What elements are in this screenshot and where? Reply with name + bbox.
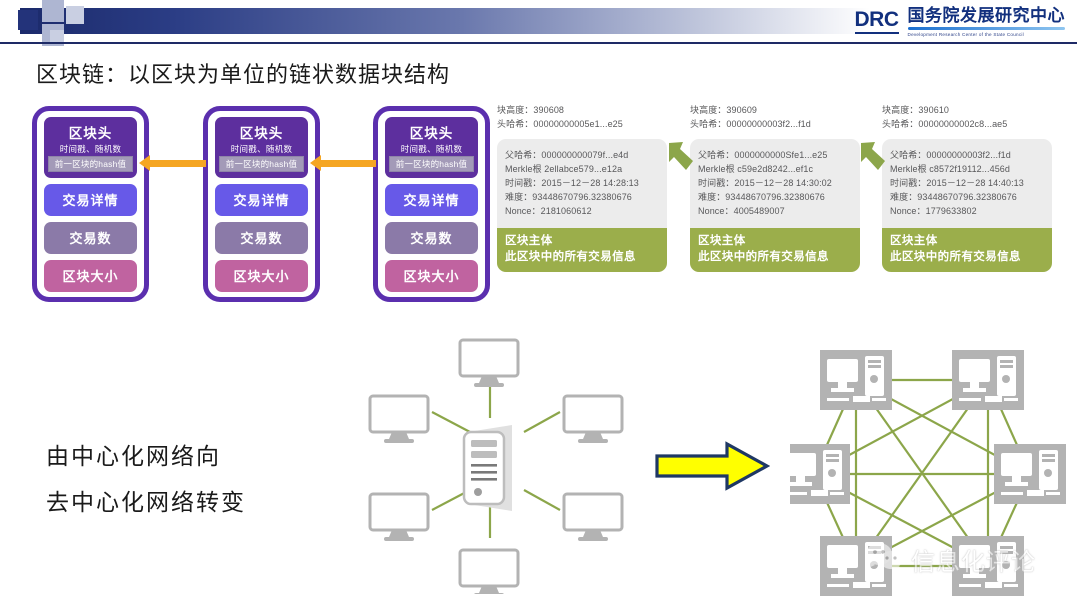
chain-link-arrow-2 (320, 160, 376, 167)
block-parent-hash: 父哈希：00000000003f2...f1d (890, 149, 1044, 163)
logo-text-group: 国务院发展研究中心 Development Research Center of… (908, 6, 1066, 37)
block-nonce: Nonce：4005489007 (698, 205, 852, 219)
chain-block-header-sub: 时间戳、随机数 (60, 143, 122, 155)
header-square-icon-2 (42, 0, 64, 22)
transition-caption: 由中心化网络向 去中心化网络转变 (46, 434, 246, 526)
wechat-watermark: 信息化评论 (865, 541, 1036, 578)
chain-block-row-tx-count: 交易数 (215, 222, 308, 254)
block-difficulty: 难度：93448670796.32380676 (890, 191, 1044, 205)
slide-header: DRC 国务院发展研究中心 Development Research Cente… (0, 0, 1077, 44)
chain-block-header-title: 区块头 (240, 122, 284, 142)
centralized-network-diagram (352, 332, 662, 594)
chain-block-prev-hash: 前一区块的hash值 (219, 156, 304, 172)
block-nonce: Nonce：1779633802 (890, 205, 1044, 219)
chain-block-row-transactions: 交易详情 (44, 184, 137, 216)
logo-name-en: Development Research Center of the State… (908, 32, 1066, 38)
chain-block-3: 区块头 时间戳、随机数 前一区块的hash值 交易详情 交易数 区块大小 (373, 106, 490, 302)
caption-line-1: 由中心化网络向 (46, 434, 246, 480)
block-height-label: 块高度：390610 (882, 104, 1052, 118)
block-timestamp: 时间戳：2015－12－28 14:40:13 (890, 177, 1044, 191)
block-body-fields: 父哈希：00000000003f2...f1d Merkle根 c8572f19… (882, 139, 1052, 228)
block-height-label: 块高度：390608 (497, 104, 667, 118)
chain-block-prev-hash: 前一区块的hash值 (48, 156, 133, 172)
block-body-title: 区块主体 (698, 233, 852, 249)
chain-block-row-block-size: 区块大小 (215, 260, 308, 292)
chain-block-header: 区块头 时间戳、随机数 前一区块的hash值 (44, 117, 137, 178)
green-link-arrow-2 (859, 139, 887, 173)
header-rule (0, 42, 1077, 44)
block-difficulty: 难度：93448670796.32380676 (505, 191, 659, 205)
block-merkle-root: Merkle根 2ellabce579...e12a (505, 163, 659, 177)
logo-swoosh-icon (908, 27, 1066, 30)
chain-block-row-tx-count: 交易数 (385, 222, 478, 254)
slide-root: DRC 国务院发展研究中心 Development Research Cente… (0, 0, 1077, 605)
block-body-title: 区块主体 (890, 233, 1044, 249)
block-body-fields: 父哈希：000000000079f...e4d Merkle根 2ellabce… (497, 139, 667, 228)
block-timestamp: 时间戳：2015－12－28 14:28:13 (505, 177, 659, 191)
block-body-subtitle: 此区块中的所有交易信息 (698, 249, 852, 265)
chain-block-header: 区块头 时间戳、随机数 前一区块的hash值 (215, 117, 308, 178)
chain-block-header-title: 区块头 (410, 122, 454, 142)
block-body-panel: 区块主体 此区块中的所有交易信息 (882, 228, 1052, 272)
chain-block-row-block-size: 区块大小 (385, 260, 478, 292)
drc-logo: DRC 国务院发展研究中心 Development Research Cente… (855, 6, 1066, 37)
chain-block-header-title: 区块头 (69, 122, 113, 142)
block-merkle-root: Merkle根 c59e2d8242...ef1c (698, 163, 852, 177)
block-body-subtitle: 此区块中的所有交易信息 (890, 249, 1044, 265)
page-title: 区块链：以区块为单位的链状数据块结构 (36, 57, 450, 89)
block-head-hash-label: 头哈希：00000000002c8...ae5 (882, 118, 1052, 132)
bitcoin-block-details: 块高度：390608 头哈希：00000000005e1...e25 父哈希：0… (497, 104, 1072, 304)
block-parent-hash: 父哈希：0000000000Sfe1...e25 (698, 149, 852, 163)
transition-arrow-icon (655, 440, 770, 492)
watermark-text: 信息化评论 (911, 542, 1036, 577)
block-difficulty: 难度：93448670796.32380676 (698, 191, 852, 205)
block-height-label: 块高度：390609 (690, 104, 860, 118)
logo-name-cn: 国务院发展研究中心 (908, 6, 1066, 26)
bitcoin-block-card-2: 块高度：390609 头哈希：00000000003f2...f1d 父哈希：0… (690, 104, 860, 272)
block-timestamp: 时间戳：2015－12－28 14:30:02 (698, 177, 852, 191)
block-body-fields: 父哈希：0000000000Sfe1...e25 Merkle根 c59e2d8… (690, 139, 860, 228)
chain-link-arrow-1 (149, 160, 206, 167)
block-nonce: Nonce：2181060612 (505, 205, 659, 219)
logo-abbr: DRC (855, 6, 899, 34)
chain-block-header-sub: 时间戳、随机数 (231, 143, 293, 155)
block-head-hash-label: 头哈希：00000000003f2...f1d (690, 118, 860, 132)
caption-line-2: 去中心化网络转变 (46, 480, 246, 526)
block-merkle-root: Merkle根 c8572f19112...456d (890, 163, 1044, 177)
block-head-hash-label: 头哈希：00000000005e1...e25 (497, 118, 667, 132)
bitcoin-block-card-3: 块高度：390610 头哈希：00000000002c8...ae5 父哈希：0… (882, 104, 1052, 272)
chain-block-1: 区块头 时间戳、随机数 前一区块的hash值 交易详情 交易数 区块大小 (32, 106, 149, 302)
block-body-panel: 区块主体 此区块中的所有交易信息 (497, 228, 667, 272)
chain-block-row-block-size: 区块大小 (44, 260, 137, 292)
chain-block-row-transactions: 交易详情 (215, 184, 308, 216)
wechat-icon (865, 541, 903, 578)
chain-block-row-transactions: 交易详情 (385, 184, 478, 216)
chain-block-prev-hash: 前一区块的hash值 (389, 156, 474, 172)
block-body-subtitle: 此区块中的所有交易信息 (505, 249, 659, 265)
block-parent-hash: 父哈希：000000000079f...e4d (505, 149, 659, 163)
blockchain-structure-diagram: 区块头 时间戳、随机数 前一区块的hash值 交易详情 交易数 区块大小 区块头… (18, 106, 488, 306)
chain-block-2: 区块头 时间戳、随机数 前一区块的hash值 交易详情 交易数 区块大小 (203, 106, 320, 302)
header-gradient-bar (20, 8, 870, 34)
block-body-title: 区块主体 (505, 233, 659, 249)
chain-block-header: 区块头 时间戳、随机数 前一区块的hash值 (385, 117, 478, 178)
bitcoin-block-card-1: 块高度：390608 头哈希：00000000005e1...e25 父哈希：0… (497, 104, 667, 272)
chain-block-header-sub: 时间戳、随机数 (401, 143, 463, 155)
header-square-icon-1 (18, 10, 38, 30)
block-body-panel: 区块主体 此区块中的所有交易信息 (690, 228, 860, 272)
header-square-icon-4 (66, 6, 84, 24)
chain-block-row-tx-count: 交易数 (44, 222, 137, 254)
green-link-arrow-1 (667, 139, 695, 173)
